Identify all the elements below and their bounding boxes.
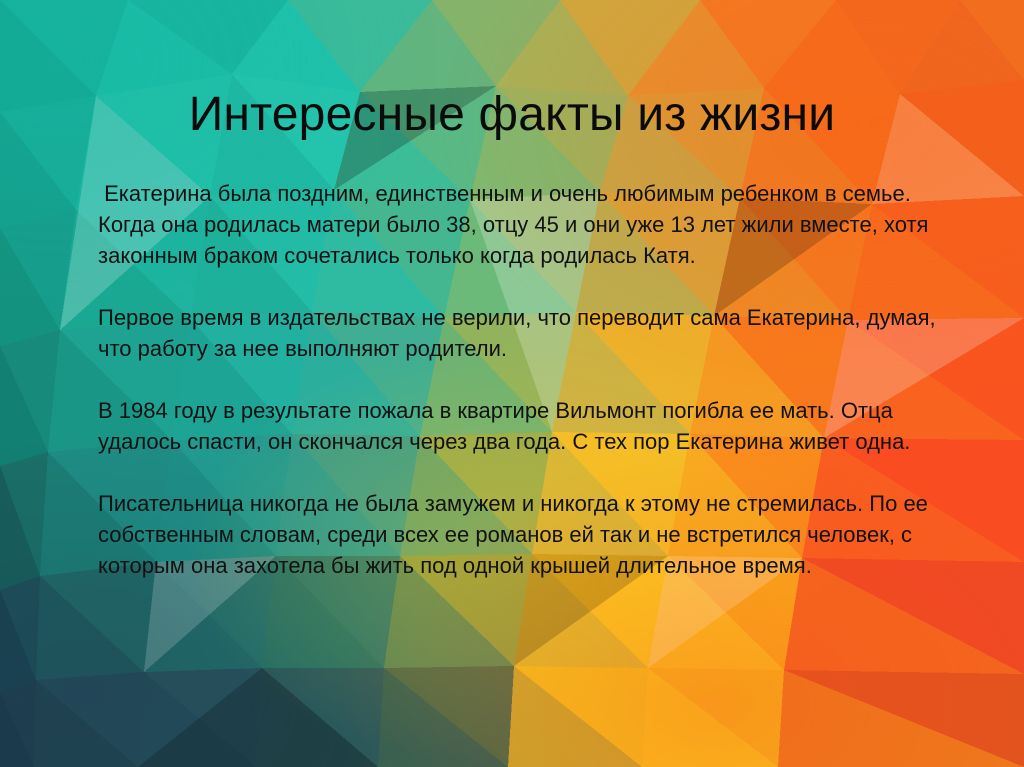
body-paragraph-2: Первое время в издательствах не верили, …: [98, 302, 960, 364]
presentation-slide: Интересные факты из жизни Екатерина была…: [0, 0, 1024, 767]
body-paragraph-1: Екатерина была поздним, единственным и о…: [98, 178, 960, 271]
page-title: Интересные факты из жизни: [0, 86, 1024, 144]
slide-content: Интересные факты из жизни Екатерина была…: [0, 0, 1024, 767]
body-paragraph-4: Писательница никогда не была замужем и н…: [98, 488, 960, 581]
slide-body: Екатерина была поздним, единственным и о…: [98, 178, 960, 581]
body-paragraph-3: В 1984 году в результате пожала в кварти…: [98, 395, 960, 457]
